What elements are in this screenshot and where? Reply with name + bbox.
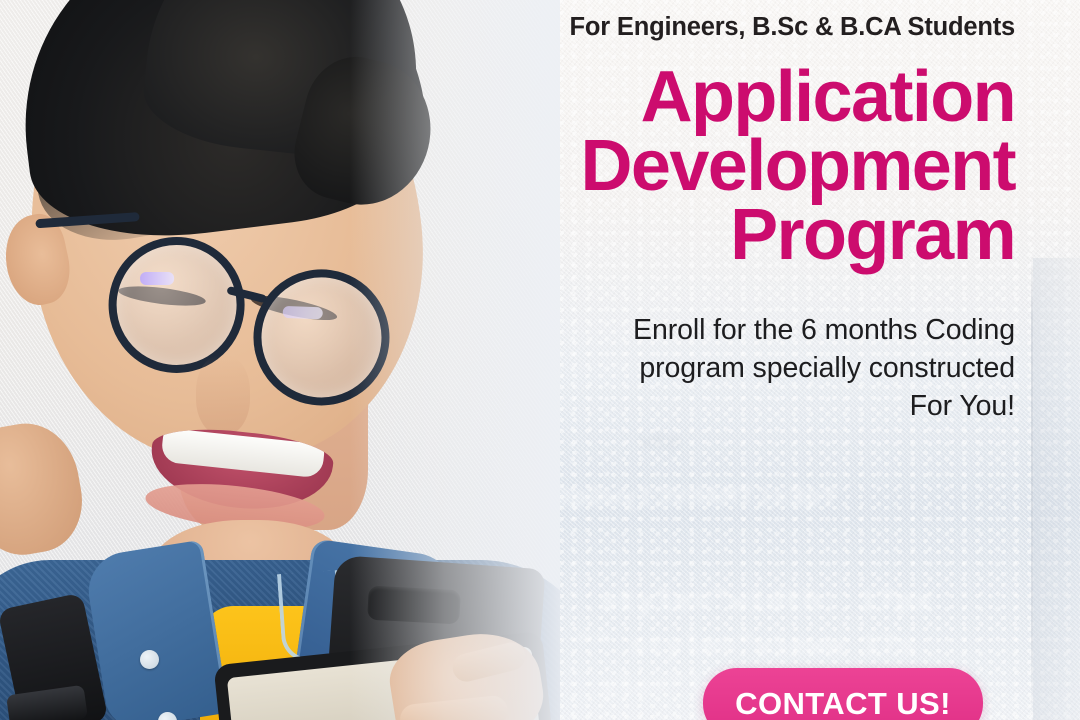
- code-watermark-line: = "" style="vieww 17s: [540, 630, 916, 663]
- title-line-2: Development: [455, 132, 1015, 201]
- jacket-button: [140, 650, 159, 669]
- subtitle-text: Enroll for the 6 months Coding program s…: [455, 270, 1015, 426]
- code-watermark-line: wEp: [640, 430, 681, 455]
- promo-banner: ly hkwnwr gkzJwVigkrwUVd YqExLTMAhVC1ywG…: [0, 0, 1080, 720]
- subtitle-line-3: For You!: [455, 388, 1015, 426]
- contact-us-button-label: CONTACT US!: [735, 686, 951, 720]
- title-line-3: Program: [455, 201, 1015, 270]
- lens-glint: [140, 272, 174, 285]
- subtitle-line-2: program specially constructed: [455, 350, 1015, 388]
- code-watermark-line: style="width: 17px: [600, 586, 933, 620]
- title-line-1: Application: [455, 63, 1015, 132]
- lens-glint: [283, 306, 323, 319]
- eyebrow-heading: For Engineers, B.Sc & B.CA Students: [455, 0, 1015, 41]
- text-content-block: For Engineers, B.Sc & B.CA Students Appl…: [455, 0, 1015, 426]
- glasses-temple-arm: [35, 212, 139, 228]
- page-title: Application Development Program: [455, 41, 1015, 270]
- subtitle-line-1: Enroll for the 6 months Coding: [455, 312, 1015, 350]
- nose: [196, 355, 250, 435]
- contact-us-button[interactable]: CONTACT US!: [703, 668, 983, 720]
